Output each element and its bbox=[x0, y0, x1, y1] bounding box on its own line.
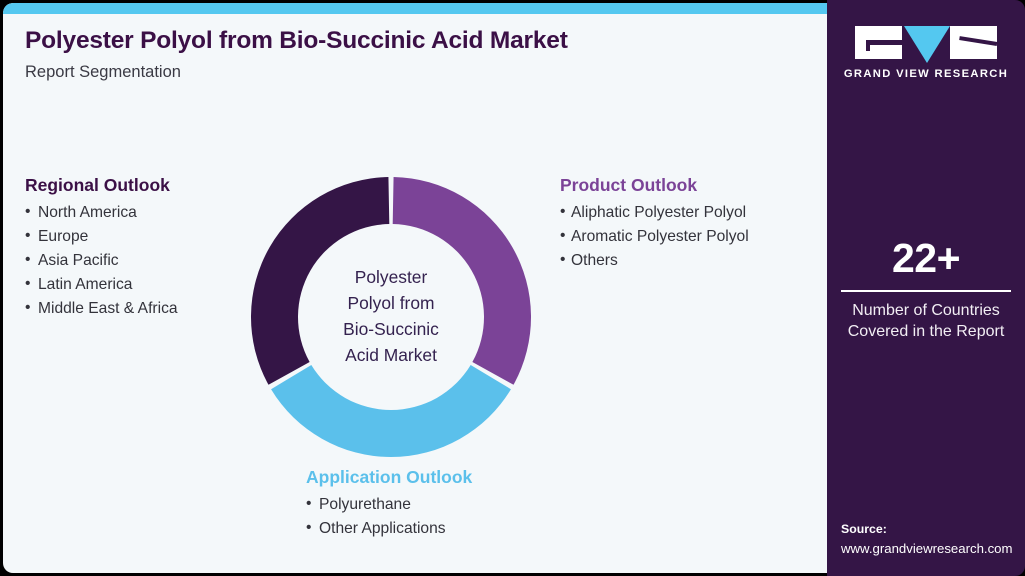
logo-mark bbox=[855, 26, 997, 59]
countries-stat: 22+ Number of Countries Covered in the R… bbox=[827, 238, 1025, 343]
stat-label-line-2: Covered in the Report bbox=[827, 321, 1025, 342]
product-outlook-block: Product Outlook Aliphatic Polyester Poly… bbox=[560, 175, 749, 273]
list-item: Aromatic Polyester Polyol bbox=[560, 225, 749, 249]
donut-center-line-4: Acid Market bbox=[345, 343, 437, 369]
product-outlook-heading: Product Outlook bbox=[560, 175, 749, 197]
infographic-canvas: Polyester Polyol from Bio-Succinic Acid … bbox=[0, 0, 1025, 576]
logo-v-triangle-icon bbox=[904, 26, 950, 63]
regional-outlook-list: North America Europe Asia Pacific Latin … bbox=[25, 201, 178, 321]
application-outlook-list: Polyurethane Other Applications bbox=[306, 493, 472, 541]
stat-label-line-1: Number of Countries bbox=[827, 300, 1025, 321]
list-item: Europe bbox=[25, 225, 178, 249]
grand-view-research-logo: GRAND VIEW RESEARCH bbox=[827, 26, 1025, 80]
list-item: Others bbox=[560, 249, 749, 273]
main-panel: Polyester Polyol from Bio-Succinic Acid … bbox=[3, 3, 827, 573]
page-title: Polyester Polyol from Bio-Succinic Acid … bbox=[25, 27, 805, 56]
source-url[interactable]: www.grandviewresearch.com bbox=[841, 539, 1025, 558]
list-item: Aliphatic Polyester Polyol bbox=[560, 201, 749, 225]
regional-outlook-block: Regional Outlook North America Europe As… bbox=[25, 175, 178, 321]
header: Polyester Polyol from Bio-Succinic Acid … bbox=[25, 27, 805, 83]
regional-outlook-heading: Regional Outlook bbox=[25, 175, 178, 197]
logo-g-icon bbox=[855, 26, 902, 59]
source-block: Source: www.grandviewresearch.com bbox=[841, 521, 1025, 558]
list-item: Other Applications bbox=[306, 517, 472, 541]
list-item: Polyurethane bbox=[306, 493, 472, 517]
list-item: North America bbox=[25, 201, 178, 225]
side-panel: GRAND VIEW RESEARCH 22+ Number of Countr… bbox=[827, 0, 1025, 576]
list-item: Asia Pacific bbox=[25, 249, 178, 273]
application-outlook-heading: Application Outlook bbox=[306, 467, 472, 489]
top-accent-bar bbox=[3, 3, 827, 14]
logo-r-icon bbox=[950, 26, 997, 59]
stat-value: 22+ bbox=[827, 238, 1025, 279]
stat-divider bbox=[841, 290, 1011, 292]
list-item: Middle East & Africa bbox=[25, 297, 178, 321]
segmentation-donut-chart: Product OutlookApplication OutlookRegion… bbox=[250, 176, 532, 458]
donut-center-line-2: Polyol from bbox=[348, 291, 435, 317]
donut-center-line-1: Polyester bbox=[355, 265, 428, 291]
source-label: Source: bbox=[841, 521, 1025, 539]
logo-wordmark: GRAND VIEW RESEARCH bbox=[844, 68, 1008, 80]
donut-center-line-3: Bio-Succinic bbox=[343, 317, 439, 343]
product-outlook-list: Aliphatic Polyester Polyol Aromatic Poly… bbox=[560, 201, 749, 273]
donut-center-label: Polyester Polyol from Bio-Succinic Acid … bbox=[250, 176, 532, 458]
application-outlook-block: Application Outlook Polyurethane Other A… bbox=[306, 467, 472, 541]
page-subtitle: Report Segmentation bbox=[25, 63, 805, 83]
list-item: Latin America bbox=[25, 273, 178, 297]
